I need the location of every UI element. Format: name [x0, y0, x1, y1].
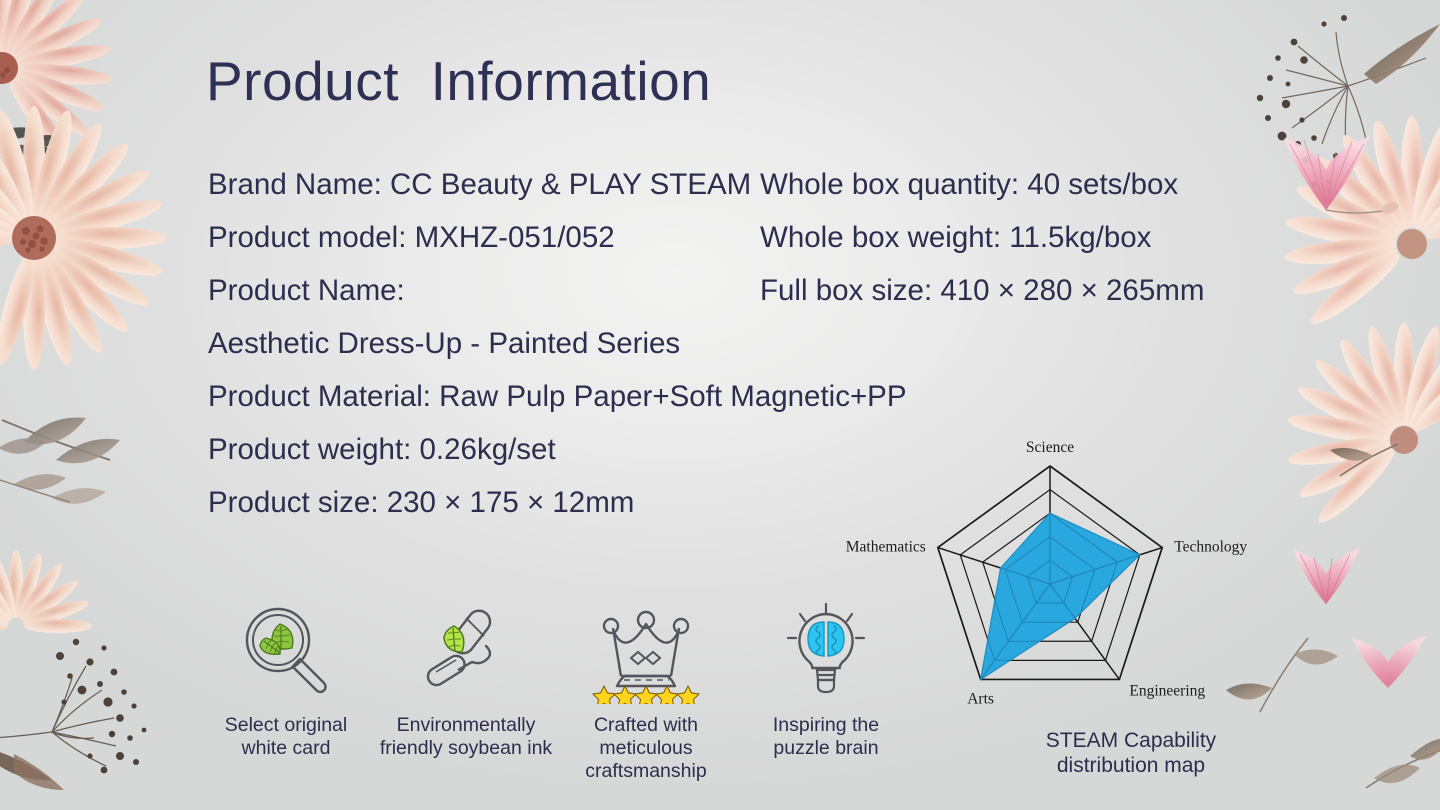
radar-axis-label-engineering: Engineering [1129, 683, 1205, 700]
page-title: Product Information [206, 52, 711, 111]
info-line-product-material: Product Material: Raw Pulp Paper+Soft Ma… [208, 370, 768, 423]
radar-chart-caption: STEAM Capability distribution map [810, 728, 1310, 778]
radar-axis-label-mathematics: Mathematics [846, 539, 926, 556]
radar-axis-label-arts: Arts [967, 691, 994, 708]
feature-label: Select original white card [225, 714, 347, 760]
info-line-brand-name: Brand Name: CC Beauty & PLAY STEAM [208, 158, 768, 211]
info-line-box-size: Full box size: 410 × 280 × 265mm [760, 264, 1320, 317]
info-line-box-quantity: Whole box quantity: 40 sets/box [760, 158, 1320, 211]
slide-canvas: Product Information Brand Name: CC Beaut… [0, 0, 1440, 810]
feature-icon-row: Select original white card [196, 596, 916, 783]
info-line-product-name: Product Name: [208, 264, 768, 317]
feature-select-original-white-card: Select original white card [196, 596, 376, 783]
info-column-left: Brand Name: CC Beauty & PLAY STEAM Produ… [208, 158, 768, 529]
info-line-product-size: Product size: 230 × 175 × 12mm [208, 476, 768, 529]
feature-label: Crafted with meticulous craftsmanship [556, 714, 736, 783]
radar-chart-svg: ScienceTechnologyEngineeringArtsMathemat… [810, 432, 1310, 732]
info-line-box-weight: Whole box weight: 11.5kg/box [760, 211, 1320, 264]
radar-axis-label-technology: Technology [1174, 539, 1247, 556]
magnifier-leaf-icon [234, 596, 338, 708]
info-line-product-name-value: Aesthetic Dress-Up - Painted Series [208, 317, 768, 370]
radar-axis-label-science: Science [1026, 439, 1074, 456]
info-line-product-weight: Product weight: 0.26kg/set [208, 423, 768, 476]
feature-crafted-with-meticulous-craftsmanship: Crafted with meticulous craftsmanship [556, 596, 736, 783]
info-line-product-model: Product model: MXHZ-051/052 [208, 211, 768, 264]
feature-environmentally-friendly-soybean-ink: Environmentally friendly soybean ink [376, 596, 556, 783]
steam-radar-chart: ScienceTechnologyEngineeringArtsMathemat… [810, 432, 1310, 792]
paint-roller-leaf-icon [414, 596, 518, 708]
feature-label: Environmentally friendly soybean ink [380, 714, 552, 760]
info-column-right: Whole box quantity: 40 sets/box Whole bo… [760, 158, 1320, 317]
crown-stars-icon [587, 596, 705, 708]
